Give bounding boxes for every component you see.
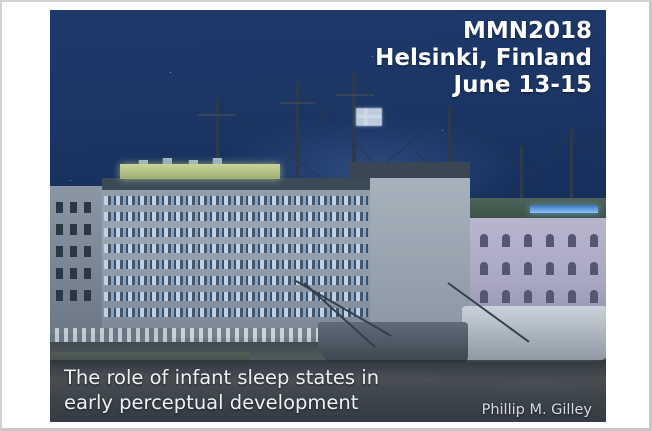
building-left (50, 186, 104, 334)
finnish-flag-icon (356, 108, 382, 126)
slide-frame: MMN2018 Helsinki, Finland June 13-15 The… (0, 0, 652, 431)
conference-header: MMN2018 Helsinki, Finland June 13-15 (375, 18, 592, 99)
presentation-title-line-2: early perceptual development (64, 391, 436, 416)
presentation-title: The role of infant sleep states in early… (64, 366, 436, 416)
conference-dates: June 13-15 (375, 72, 592, 99)
neon-sign (530, 206, 598, 213)
star-icon (372, 56, 373, 57)
ship-hull-white (462, 306, 606, 362)
star-icon (70, 180, 71, 181)
star-icon (170, 72, 171, 73)
mast-yard (198, 114, 236, 116)
presentation-title-line-1: The role of infant sleep states in (64, 366, 436, 391)
title-slide-photo: MMN2018 Helsinki, Finland June 13-15 The… (50, 10, 606, 422)
illuminated-roof-sign (120, 164, 280, 179)
conference-name: MMN2018 (375, 18, 592, 45)
star-icon (442, 130, 443, 131)
presenter-name: Phillip M. Gilley (482, 402, 592, 418)
conference-location: Helsinki, Finland (375, 45, 592, 72)
